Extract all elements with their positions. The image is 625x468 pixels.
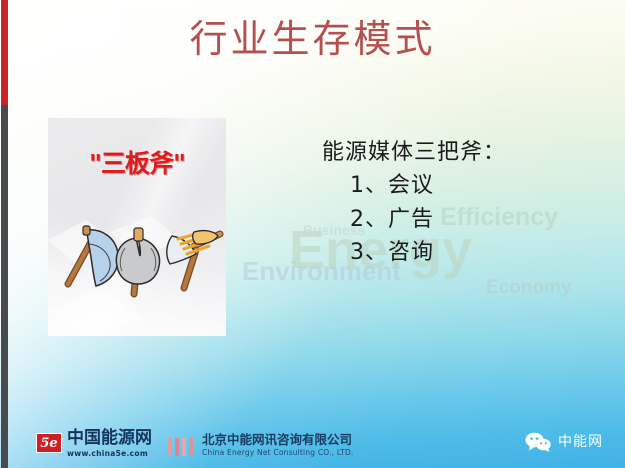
axes-graphic bbox=[48, 214, 226, 336]
slide-canvas: Energy Efficiency Environment Economy Bu… bbox=[0, 0, 625, 468]
body-lead: 能源媒体三把斧： bbox=[322, 136, 612, 169]
illustration-caption: "三板斧" bbox=[48, 144, 226, 180]
company-block: 北京中能网讯咨询有限公司 China Energy Net Consulting… bbox=[202, 433, 354, 457]
list-item: 1、会议 bbox=[350, 169, 612, 202]
brand-name-cn: 中国能源网 bbox=[67, 430, 152, 447]
body-list: 1、会议 2、广告 3、咨询 bbox=[350, 169, 612, 269]
five-e-mark: 5e bbox=[36, 433, 62, 453]
brand-website: www.china5e.com bbox=[67, 450, 152, 458]
illustration-three-axes: "三板斧" bbox=[48, 118, 226, 336]
list-item: 3、咨询 bbox=[350, 236, 612, 269]
edge-stripe-dark bbox=[1, 105, 8, 468]
company-name-cn: 北京中能网讯咨询有限公司 bbox=[202, 433, 354, 447]
wechat-label: 中能网 bbox=[558, 435, 603, 449]
wechat-icon bbox=[525, 432, 551, 452]
slide-title: 行业生存模式 bbox=[0, 18, 625, 62]
axe-orange bbox=[167, 231, 220, 288]
divider-bars-icon bbox=[168, 438, 193, 456]
watermark-economy: Economy bbox=[486, 277, 572, 299]
body-text-block: 能源媒体三把斧： 1、会议 2、广告 3、咨询 bbox=[322, 136, 612, 270]
footer-logo-bar: 5e 中国能源网 www.china5e.com 北京中能网讯咨询有限公司 Ch… bbox=[36, 430, 354, 458]
list-item: 2、广告 bbox=[350, 203, 612, 236]
china5e-logo: 5e 中国能源网 www.china5e.com bbox=[36, 430, 152, 458]
company-name-en: China Energy Net Consulting CO., LTD. bbox=[202, 449, 354, 457]
wechat-tag: 中能网 bbox=[525, 432, 603, 452]
